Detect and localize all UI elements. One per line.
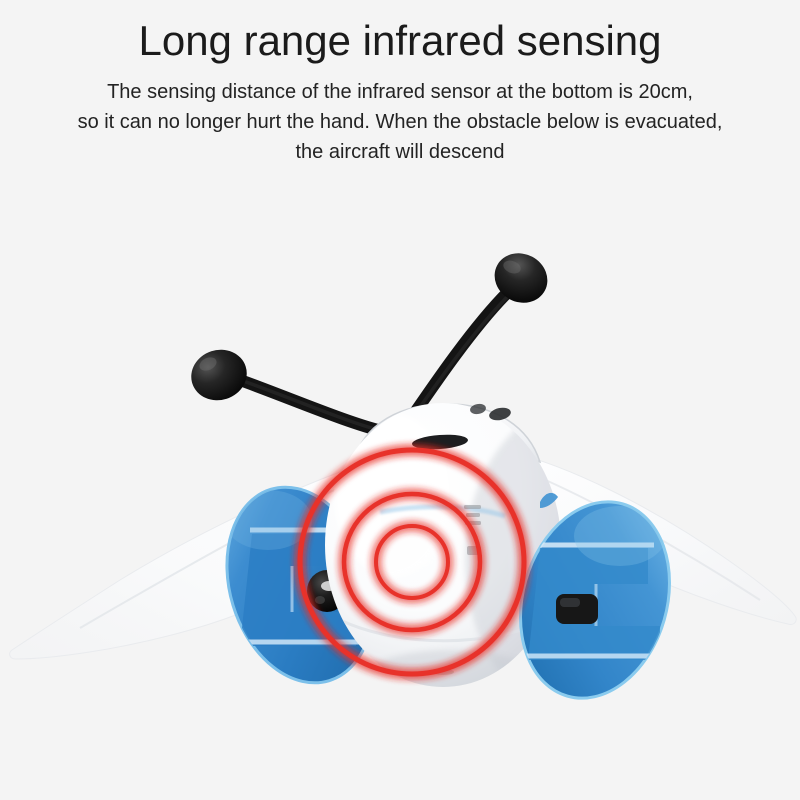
marketing-copy-block: Long range infrared sensing The sensing …: [0, 0, 800, 167]
feature-description: The sensing distance of the infrared sen…: [0, 65, 800, 167]
description-line-3: the aircraft will descend: [0, 137, 800, 167]
product-feature-page: Long range infrared sensing The sensing …: [0, 0, 800, 800]
description-line-2: so it can no longer hurt the hand. When …: [0, 107, 800, 137]
left-antenna-ball: [185, 343, 254, 408]
page-title: Long range infrared sensing: [0, 0, 800, 65]
right-antenna: [403, 244, 556, 430]
right-sensor-port: [556, 594, 598, 624]
description-line-1: The sensing distance of the infrared sen…: [0, 77, 800, 107]
left-antenna: [185, 343, 386, 432]
